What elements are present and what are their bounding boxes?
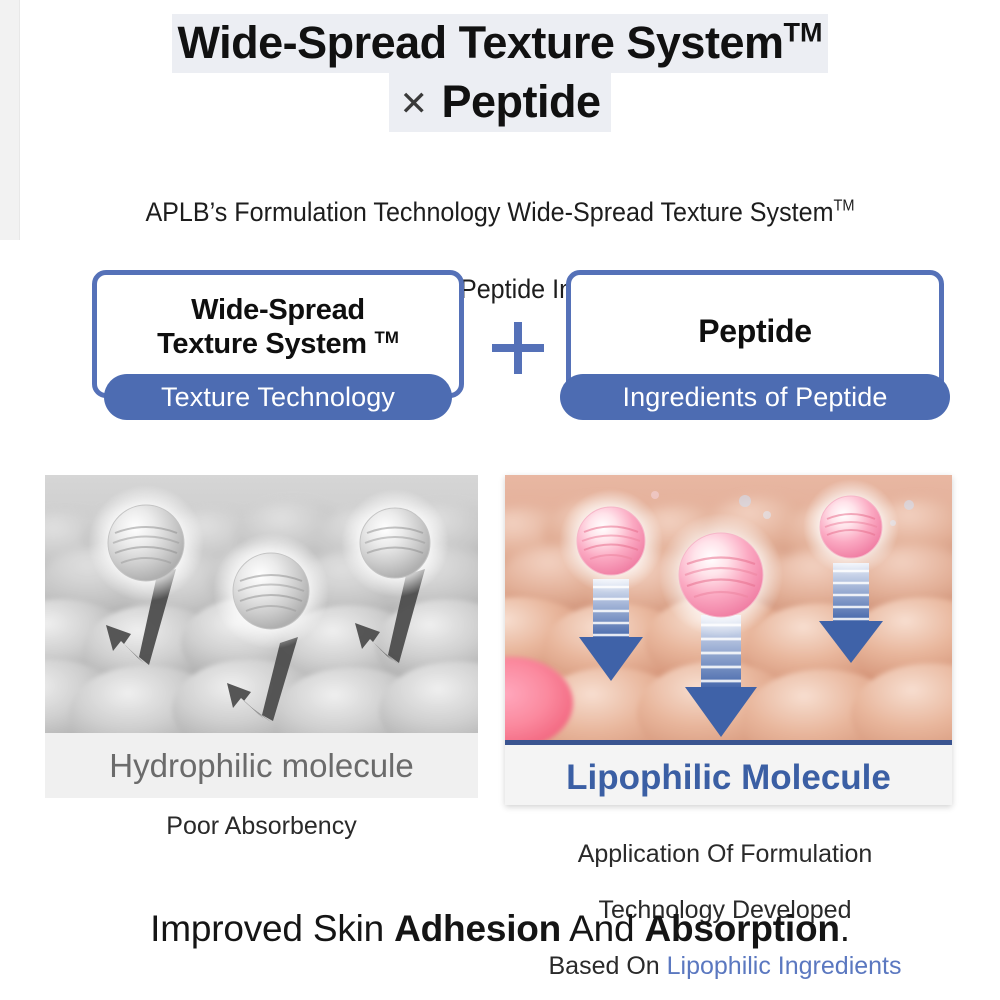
title-line-2-text: Peptide [441, 76, 600, 127]
caption-lipophilic: Lipophilic Molecule [505, 740, 952, 805]
concept-left-trademark-symbol: TM [375, 328, 399, 347]
subtitle-part-1: APLB’s Formulation Technology Wide-Sprea… [145, 197, 833, 227]
trademark-symbol: TM [783, 17, 822, 47]
concept-boxes: Wide-Spread Texture System TM Peptide Te… [0, 270, 1000, 455]
panel-lipophilic: Lipophilic Molecule [505, 475, 952, 805]
promo-graphic-page: Wide-Spread Texture SystemTM ✕Peptide AP… [0, 0, 1000, 1000]
lipophilic-scene-svg [505, 475, 952, 740]
illustration-lipophilic [505, 475, 952, 740]
cross-icon: ✕ [399, 85, 441, 123]
footer-part-1: Improved Skin [150, 908, 394, 949]
concept-box-peptide-title: Peptide [571, 313, 939, 351]
concept-box-texture-system-title: Wide-Spread Texture System TM [97, 293, 459, 361]
pill-ingredients-of-peptide: Ingredients of Peptide [560, 374, 950, 420]
footer-part-2: And [561, 908, 644, 949]
title-line-1-highlight: Wide-Spread Texture SystemTM [172, 14, 829, 73]
subtitle-trademark-symbol: TM [834, 198, 855, 215]
title-line-1: Wide-Spread Texture SystemTM [0, 14, 1000, 73]
subcaption-line-3-prefix: Based On [548, 952, 666, 980]
subcaption-line-3-accent: Lipophilic Ingredients [667, 952, 902, 980]
title-line-2-highlight: ✕Peptide [389, 73, 610, 132]
pill-texture-technology: Texture Technology [104, 374, 452, 420]
panel-hydrophilic: Hydrophilic molecule [45, 475, 478, 798]
subcaption-application: Application Of Formulation Technology De… [490, 812, 960, 980]
title-line-1-text: Wide-Spread Texture System [178, 17, 784, 68]
footer-bold-adhesion: Adhesion [394, 908, 561, 949]
footer-bold-absorption: Absorption [644, 908, 839, 949]
concept-left-text: Wide-Spread Texture System [157, 294, 374, 360]
footer-statement: Improved Skin Adhesion And Absorption. [0, 908, 1000, 950]
subcaption-line-1: Application Of Formulation [578, 840, 873, 868]
page-title: Wide-Spread Texture SystemTM ✕Peptide [0, 14, 1000, 132]
illustration-hydrophilic [45, 475, 478, 733]
plus-icon [490, 320, 546, 376]
caption-hydrophilic: Hydrophilic molecule [45, 733, 478, 798]
footer-part-3: . [840, 908, 850, 949]
title-line-2: ✕Peptide [0, 73, 1000, 132]
hydrophilic-scene-svg [45, 475, 478, 733]
subcaption-poor-absorbency: Poor Absorbency [45, 812, 478, 841]
